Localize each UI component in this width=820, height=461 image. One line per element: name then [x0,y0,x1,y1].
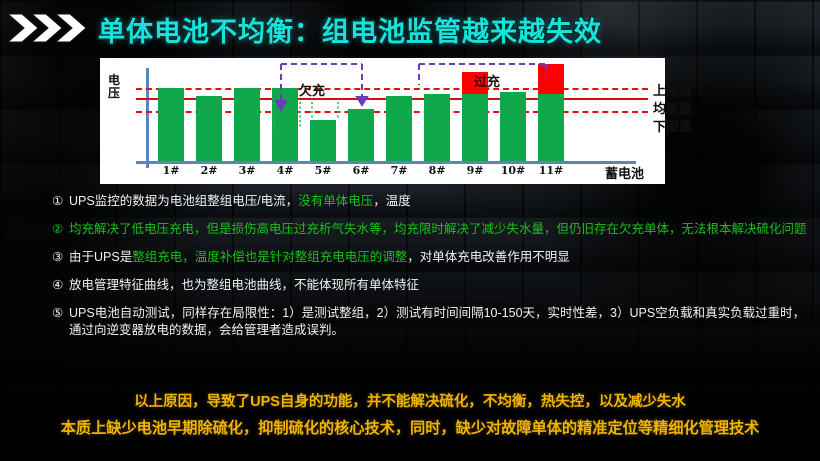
bullet-text-run: UPS监控的数据为电池组整组电压/电流， [69,194,298,208]
bullet-list: ①UPS监控的数据为电池组整组电压/电流，没有单体电压，温度②均充解决了低电压充… [52,193,812,350]
chart-panel: 电压 上限值 均衡度 下限值 1#2#3#4#5#6#7#8#9#10#11# … [100,58,665,184]
bullet-text-run: 放电管理特征曲线，也为整组电池曲线，不能体现所有单体特征 [69,278,419,292]
bullet-item-3: ③由于UPS是整组充电，温度补偿也是针对整组充电电压的调整，对单体充电改善作用不… [52,249,812,266]
conclusion-line-1: 以上原因，导致了UPS自身的功能，并不能解决硫化，不均衡，热失控，以及减少失水 [0,390,820,411]
bullet-text: 放电管理特征曲线，也为整组电池曲线，不能体现所有单体特征 [69,277,812,294]
bullet-text-run: 整组充电，温度补偿也是针对整组充电电压的调整 [132,250,407,264]
reference-label-lower: 下限值 [653,116,692,135]
chart-bar-normal-segment [272,88,298,161]
chart-x-tick-label: 6# [343,164,379,177]
bullet-marker: ⑤ [52,305,69,322]
chart-callout-label-undercharge: 欠充 [299,80,325,99]
chart-bar-normal-segment [386,96,412,161]
chart-bar [196,68,222,161]
bullet-marker: ③ [52,249,69,266]
chart-bar [500,68,526,161]
chart-bar-normal-segment [196,96,222,161]
bullet-text: UPS电池自动测试，同样存在局限性：1）是测试整组，2）测试有时间间隔10-15… [69,305,812,339]
bullet-text-run: ，对单体充电改善作用不明显 [407,250,570,264]
chart-bar [424,68,450,161]
chart-bar [158,68,184,161]
chart-bar [234,68,260,161]
chevron-triple-right-icon [6,12,90,44]
bullet-text-run: ，温度 [373,194,411,208]
page-title: 单体电池不均衡：组电池监管越来越失效 [98,10,602,49]
chart-bar-normal-segment [310,120,336,161]
chart-bar-normal-segment [462,94,488,161]
bullet-text: UPS监控的数据为电池组整组电压/电流，没有单体电压，温度 [69,193,812,210]
bullet-text-run: 由于UPS是 [69,250,132,264]
bullet-text: 均充解决了低电压充电，但是损伤高电压过充析气失水等，均充限时解决了减少失水量，但… [69,221,812,238]
bullet-text-run: 均充解决了低电压充电，但是损伤高电压过充析气失水等，均充限时解决了减少失水量，但… [69,222,807,236]
chart-x-tick-label: 3# [229,164,265,177]
slide-header: 单体电池不均衡：组电池监管越来越失效 [0,0,820,56]
chart-x-tick-label: 1# [153,164,189,177]
bullet-item-1: ①UPS监控的数据为电池组整组电压/电流，没有单体电压，温度 [52,193,812,210]
bullet-text: 由于UPS是整组充电，温度补偿也是针对整组充电电压的调整，对单体充电改善作用不明… [69,249,812,266]
chart-bar [538,68,564,161]
chart-y-axis-line [146,68,149,168]
bullet-text-run: UPS电池自动测试，同样存在局限性：1）是测试整组，2）测试有时间间隔10-15… [69,306,805,337]
bullet-item-5: ⑤UPS电池自动测试，同样存在局限性：1）是测试整组，2）测试有时间间隔10-1… [52,305,812,339]
chart-x-tick-label: 9# [457,164,493,177]
bullet-marker: ① [52,193,69,210]
chart-x-tick-label: 8# [419,164,455,177]
chart-bar [348,68,374,161]
chart-bar-normal-segment [500,92,526,161]
bullet-marker: ④ [52,277,69,294]
bullet-text-run: 没有单体电压 [298,194,373,208]
chart-x-tick-label: 2# [191,164,227,177]
chart-y-axis-label: 电压 [106,74,122,100]
chart-x-axis-title: 蓄电池 [605,163,644,182]
bullet-item-2: ②均充解决了低电压充电，但是损伤高电压过充析气失水等，均充限时解决了减少失水量，… [52,221,812,238]
chart-x-tick-label: 4# [267,164,303,177]
slide-root: 单体电池不均衡：组电池监管越来越失效 电压 上限值 均衡度 下限值 1#2#3#… [0,0,820,461]
bullet-item-4: ④放电管理特征曲线，也为整组电池曲线，不能体现所有单体特征 [52,277,812,294]
chart-bar-normal-segment [158,88,184,161]
chart-bar-normal-segment [234,88,260,161]
chart-bar [272,68,298,161]
chart-bar-normal-segment [424,94,450,161]
chart-bar-overcharge-segment [538,64,564,94]
reference-label-upper: 上限值 [653,80,692,99]
chart-x-tick-label: 10# [495,164,531,177]
chart-callout-label-overcharge: 过充 [474,71,500,90]
reference-label-middle: 均衡度 [653,98,692,117]
chart-bar-normal-segment [348,109,374,161]
chart-x-tick-label: 7# [381,164,417,177]
chart-x-tick-label: 5# [305,164,341,177]
conclusion-line-2: 本质上缺少电池早期除硫化，抑制硫化的核心技术，同时，缺少对故障单体的精准定位等精… [0,416,820,438]
chart-bar-normal-segment [538,94,564,161]
chart-bar [386,68,412,161]
chart-x-tick-label: 11# [533,164,569,177]
chart-plot-area [152,68,572,161]
bullet-marker: ② [52,221,69,238]
